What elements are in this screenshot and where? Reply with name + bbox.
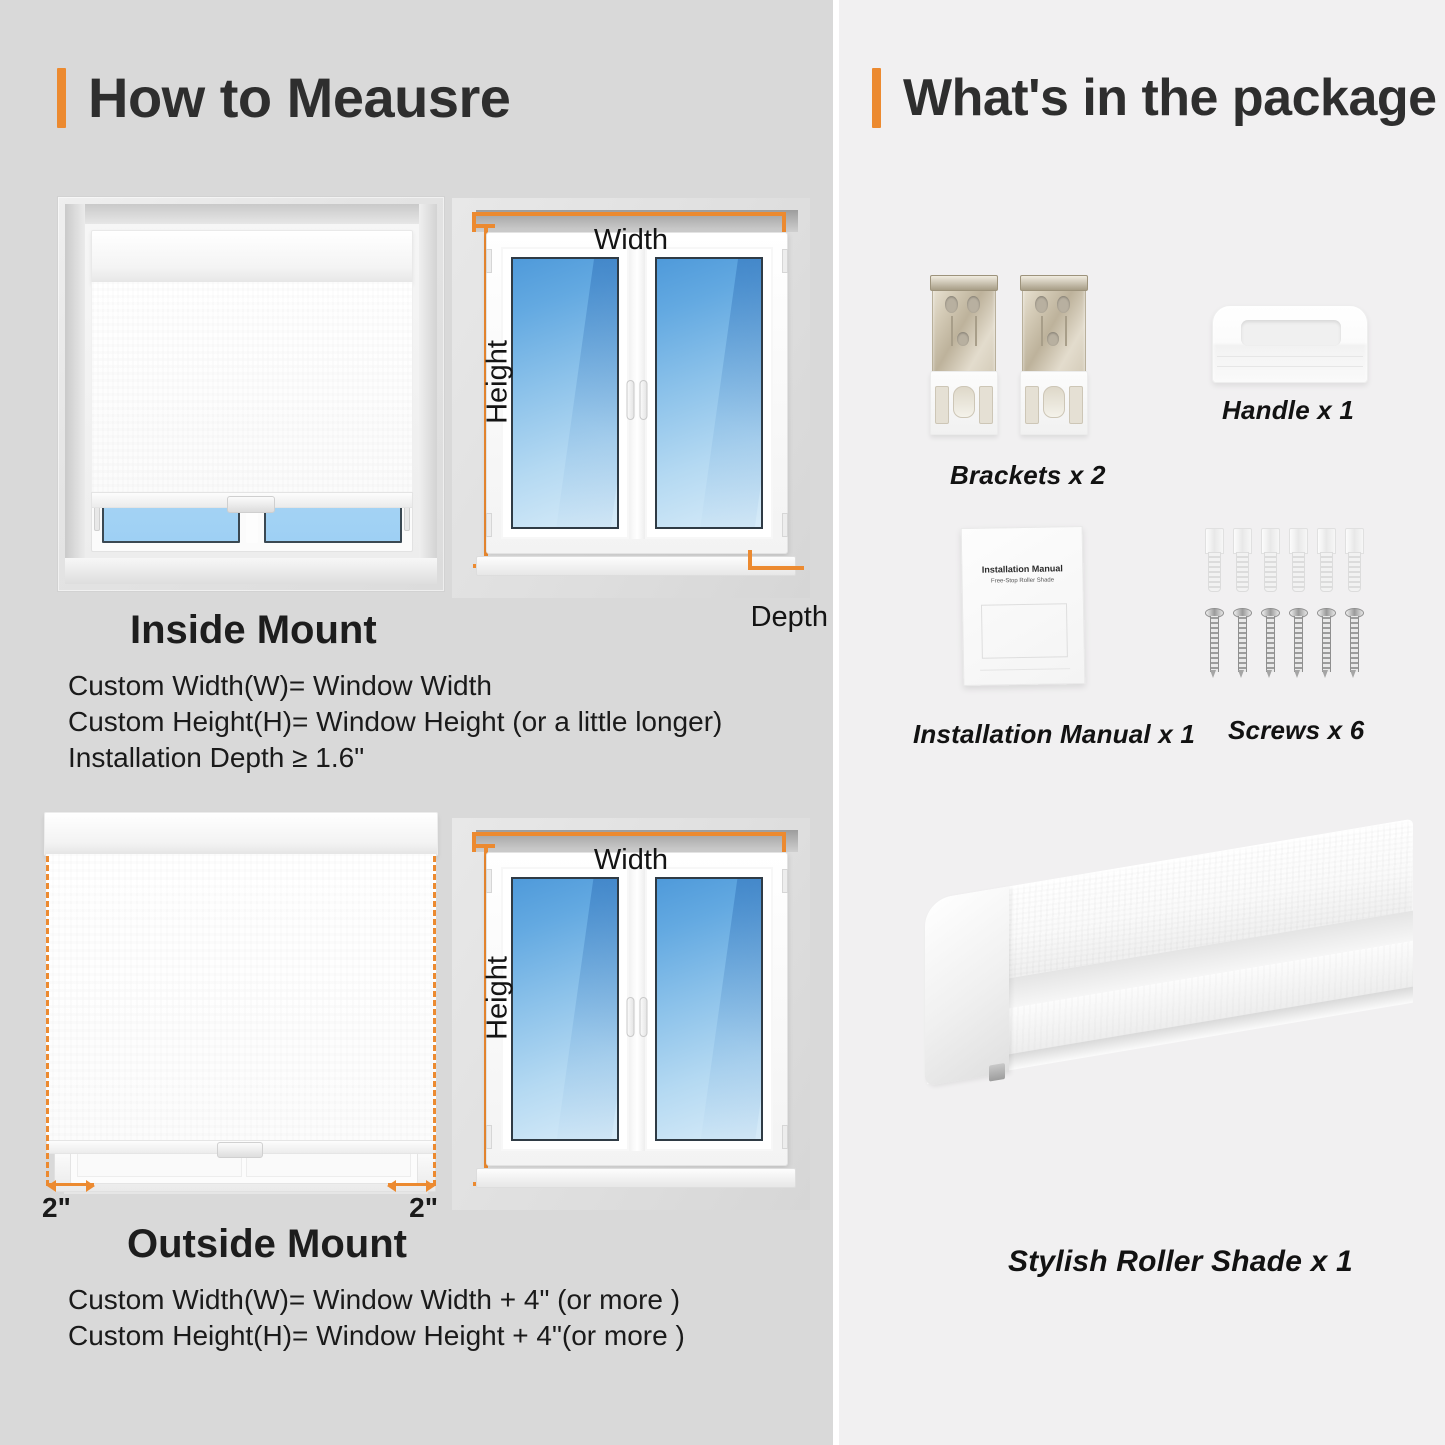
wall-anchor — [1289, 528, 1306, 590]
outside-shade-pull-handle — [217, 1142, 263, 1158]
diagram-hinge-br-2 — [782, 1125, 788, 1149]
manual-cover: Installation Manual Free-Stop Roller Sha… — [961, 526, 1086, 686]
manual-cover-title: Installation Manual — [962, 563, 1082, 575]
bracket-hole — [1035, 296, 1048, 313]
wall-anchor — [1317, 528, 1334, 590]
diagram-hinge-bl-2 — [486, 1125, 492, 1149]
outside-mount-shade-illustration: 2" 2" — [36, 812, 444, 1210]
bracket-slot-left — [1025, 386, 1039, 424]
diagram-window-handles — [627, 380, 648, 420]
width-measure-cap-right-2 — [782, 832, 786, 852]
screw — [1345, 608, 1362, 678]
screw-row — [1205, 608, 1362, 678]
inside-mount-instructions: Custom Width(W)= Window Width Custom Hei… — [68, 668, 722, 775]
diagram-glass-left — [511, 257, 619, 529]
diagram-leaf-right — [645, 247, 773, 539]
overhang-label-right: 2" — [409, 1192, 438, 1224]
how-to-measure-panel: How to Meausre — [0, 0, 833, 1445]
bracket-hole — [1057, 296, 1070, 313]
shade-valance — [91, 230, 413, 284]
bracket-rib — [1041, 316, 1043, 346]
width-measure-cap-right — [782, 212, 786, 232]
screws-image — [1205, 528, 1373, 690]
accent-bar-left — [57, 68, 66, 128]
wall-anchor — [1205, 528, 1222, 590]
inside-line-1: Custom Width(W)= Window Width — [68, 668, 722, 704]
wall-anchor-row — [1205, 528, 1362, 590]
roller-shade-end-pin — [989, 1063, 1005, 1082]
bracket-rib — [951, 316, 953, 346]
width-measure-line-2 — [472, 832, 786, 836]
diagram-hinge-tl-2 — [486, 869, 492, 893]
screw — [1261, 608, 1278, 678]
shade-pull-handle — [227, 496, 275, 513]
manual-cover-footer-rule — [980, 668, 1070, 671]
bracket-item — [930, 275, 996, 435]
handle-grip-cutout — [1241, 320, 1341, 346]
overhang-arrow-left — [48, 1183, 94, 1186]
height-measure-cap-top — [473, 224, 495, 228]
handle-ridge — [1217, 366, 1363, 367]
screw — [1289, 608, 1306, 678]
bracket-hole — [957, 332, 969, 346]
brackets-image — [930, 275, 1110, 440]
diagram-hinge-tr — [782, 249, 788, 273]
screws-label: Screws x 6 — [1228, 715, 1364, 746]
handle-label: Handle x 1 — [1222, 395, 1354, 426]
how-to-measure-heading: How to Meausre — [57, 68, 510, 128]
width-measure-line — [472, 212, 786, 216]
diagram-handle-left-2 — [627, 997, 635, 1037]
depth-measure-line — [750, 566, 804, 570]
diagram-window-frame-2 — [486, 852, 788, 1166]
screw — [1233, 608, 1250, 678]
bracket-plastic-base — [930, 371, 998, 435]
diagram-hinge-bl — [486, 513, 492, 537]
overhang-label-left: 2" — [42, 1192, 71, 1224]
roller-shade-image — [905, 880, 1430, 1210]
bracket-rib — [1065, 316, 1067, 346]
brackets-label: Brackets x 2 — [950, 460, 1106, 491]
window-reveal-bottom — [65, 558, 437, 584]
bracket-rib — [975, 316, 977, 346]
label-depth: Depth — [751, 601, 828, 634]
label-width-top: Width — [594, 224, 668, 257]
bracket-hole — [945, 296, 958, 313]
bracket-slot-right — [1069, 386, 1083, 424]
diagram-hinge-tr-2 — [782, 869, 788, 893]
outside-line-2: Custom Height(H)= Window Height + 4"(or … — [68, 1318, 685, 1354]
bracket-hole — [1047, 332, 1059, 346]
inside-line-2: Custom Height(H)= Window Height (or a li… — [68, 704, 722, 740]
bracket-hole — [967, 296, 980, 313]
label-width-bottom: Width — [594, 844, 668, 877]
package-title: What's in the package — [903, 72, 1437, 124]
roller-shade-end-cap — [925, 886, 1009, 1086]
outside-line-1: Custom Width(W)= Window Width + 4" (or m… — [68, 1282, 685, 1318]
screw — [1205, 608, 1222, 678]
diagram-leaf-left — [501, 247, 629, 539]
bracket-slot-right — [979, 386, 993, 424]
width-measure-cap-left-2 — [472, 832, 476, 852]
label-height-top: Height — [481, 340, 514, 424]
wall-anchor — [1345, 528, 1362, 590]
installation-manual-image: Installation Manual Free-Stop Roller Sha… — [962, 527, 1084, 685]
width-measure-cap-left — [472, 212, 476, 232]
bracket-plastic-base — [1020, 371, 1088, 435]
diagram-hinge-tl — [486, 249, 492, 273]
inside-line-3: Installation Depth ≥ 1.6" — [68, 740, 722, 776]
diagram-leaf-left-2 — [501, 867, 629, 1151]
diagram-handle-left — [627, 380, 635, 420]
overhang-guide-right — [433, 856, 436, 1186]
diagram-handle-right — [640, 380, 648, 420]
manual-cover-subtitle: Free-Stop Roller Shade — [963, 577, 1083, 585]
outside-mount-measure-diagram: Width Height — [452, 818, 810, 1210]
package-heading: What's in the package — [872, 68, 1437, 128]
wall-anchor — [1233, 528, 1250, 590]
how-to-measure-title: How to Meausre — [88, 70, 510, 126]
overhang-guide-left — [46, 856, 49, 1186]
outside-shade-fabric — [46, 854, 436, 1144]
depth-measure-cap — [748, 550, 752, 570]
bracket-top-flange — [1020, 275, 1088, 291]
diagram-glass-left-2 — [511, 877, 619, 1141]
overhang-arrow-right — [388, 1183, 434, 1186]
height-measure-cap-top-2 — [473, 844, 495, 848]
bracket-item — [1020, 275, 1086, 435]
diagram-window-frame — [486, 232, 788, 554]
window-reveal-left — [65, 204, 85, 584]
outside-mount-instructions: Custom Width(W)= Window Width + 4" (or m… — [68, 1282, 685, 1354]
diagram-hinge-br — [782, 513, 788, 537]
shade-fabric — [91, 282, 413, 494]
infographic-page: How to Meausre — [0, 0, 1445, 1445]
inside-mount-shade-illustration — [57, 196, 445, 592]
outside-mount-title: Outside Mount — [127, 1222, 407, 1267]
handle-body — [1212, 305, 1368, 383]
bracket-keyhole — [1043, 386, 1065, 418]
diagram-leaf-right-2 — [645, 867, 773, 1151]
diagram-glass-right — [655, 257, 763, 529]
roller-shade-label: Stylish Roller Shade x 1 — [1008, 1245, 1353, 1279]
inside-mount-title: Inside Mount — [130, 608, 377, 653]
diagram-window-handles-2 — [627, 997, 648, 1037]
bracket-top-flange — [930, 275, 998, 291]
handle-ridge — [1217, 356, 1363, 357]
diagram-window-sill-2 — [476, 1168, 796, 1188]
bracket-slot-left — [935, 386, 949, 424]
diagram-handle-right-2 — [640, 997, 648, 1037]
wall-anchor — [1261, 528, 1278, 590]
label-height-bottom: Height — [481, 956, 514, 1040]
accent-bar-right — [872, 68, 881, 128]
screw — [1317, 608, 1334, 678]
window-reveal-top — [65, 204, 437, 224]
bracket-keyhole — [953, 386, 975, 418]
diagram-glass-right-2 — [655, 877, 763, 1141]
inside-mount-measure-diagram: Width Height Depth — [452, 198, 810, 598]
window-reveal-right — [419, 204, 437, 584]
installation-manual-label: Installation Manual x 1 — [913, 719, 1195, 750]
outside-shade-valance — [44, 812, 438, 856]
handle-image — [1212, 305, 1368, 383]
manual-cover-figure — [981, 603, 1068, 658]
